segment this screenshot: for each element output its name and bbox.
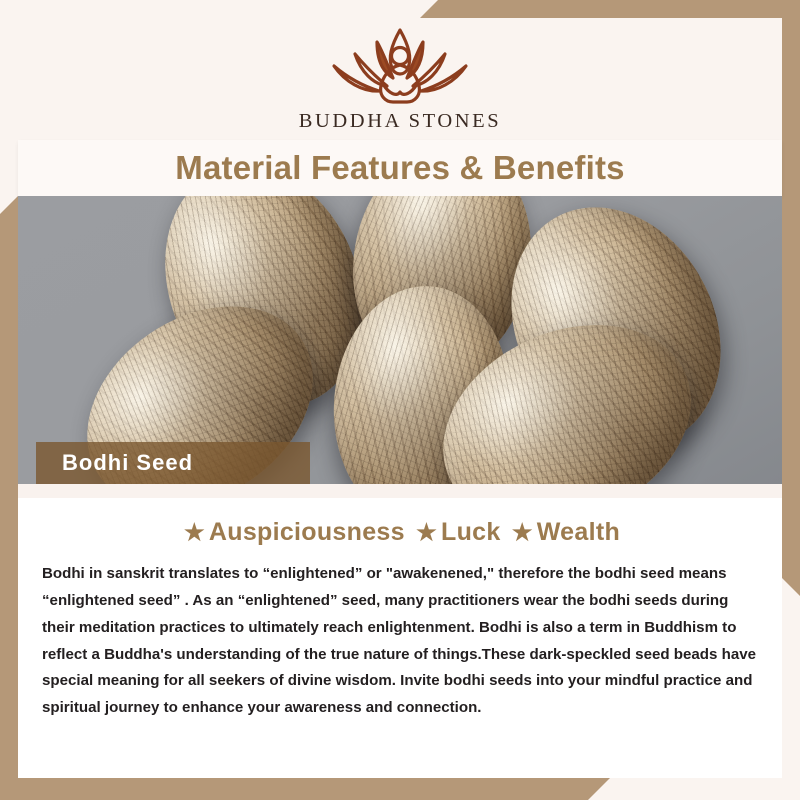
star-icon: ★ <box>412 519 441 545</box>
star-icon: ★ <box>508 519 537 545</box>
lotus-meditation-figure-icon <box>317 26 483 108</box>
brand-wordmark: BUDDHA STONES <box>299 110 502 133</box>
frame-accent-top-right <box>420 0 800 18</box>
brand-header: BUDDHA STONES <box>18 18 782 140</box>
photo-caption-band: Bodhi Seed <box>36 442 310 484</box>
frame-accent-left <box>0 196 18 800</box>
photo-caption-label: Bodhi Seed <box>36 450 193 476</box>
panel-top-tint <box>18 484 782 498</box>
description-panel: ★Auspiciousness ★Luck ★Wealth Bodhi in s… <box>18 484 782 778</box>
description-text: Bodhi in sanskrit translates to “enlight… <box>42 561 760 722</box>
page-title: Material Features & Benefits <box>175 149 624 187</box>
benefit-label-luck: Luck <box>441 518 501 546</box>
poster-root: BUDDHA STONES Material Features & Benefi… <box>0 0 800 800</box>
frame-accent-right <box>782 0 800 596</box>
benefit-label-wealth: Wealth <box>537 518 620 546</box>
title-band: Material Features & Benefits <box>18 140 782 196</box>
frame-accent-bottom <box>0 778 610 800</box>
benefits-heading: ★Auspiciousness ★Luck ★Wealth <box>18 518 782 547</box>
benefit-label-auspiciousness: Auspiciousness <box>209 518 405 546</box>
product-photo: Bodhi Seed <box>18 196 782 484</box>
star-icon: ★ <box>180 519 209 545</box>
